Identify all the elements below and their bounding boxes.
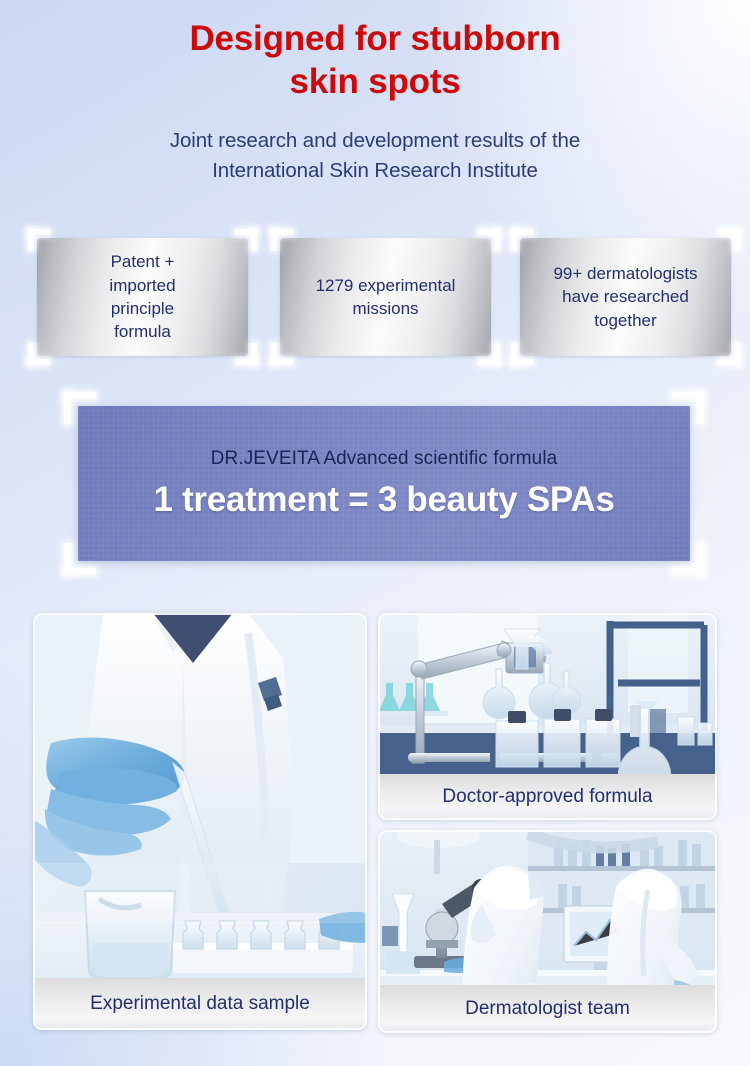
headline-line-2: skin spots: [0, 61, 750, 104]
banner-headline: 1 treatment = 3 beauty SPAs: [153, 480, 614, 520]
photo-card-doctor-approved-formula: Doctor-approved formula: [378, 613, 717, 820]
corner-bracket-icon: [478, 343, 500, 365]
headline-line-1: Designed for stubborn: [0, 18, 750, 61]
badge-card-row: Patent + imported principle formula 1279…: [0, 238, 750, 358]
photo-card-dermatologist-team: Dermatologist team: [378, 830, 717, 1033]
formula-banner: DR.JEVEITA Advanced scientific formula 1…: [78, 406, 690, 561]
corner-bracket-icon: [28, 229, 50, 251]
corner-bracket-icon: [478, 229, 500, 251]
badge-card-label: 1279 experimental missions: [306, 274, 466, 321]
page-title: Designed for stubborn skin spots: [0, 18, 750, 103]
corner-bracket-icon: [718, 229, 740, 251]
promo-page: Designed for stubborn skin spots Joint r…: [0, 0, 750, 1066]
banner-subtitle: DR.JEVEITA Advanced scientific formula: [211, 448, 558, 470]
subtitle-line-1: Joint research and development results o…: [0, 126, 750, 156]
corner-bracket-icon: [64, 543, 96, 575]
corner-bracket-icon: [511, 343, 533, 365]
corner-bracket-icon: [271, 229, 293, 251]
corner-bracket-icon: [718, 343, 740, 365]
corner-bracket-icon: [235, 229, 257, 251]
corner-bracket-icon: [672, 543, 704, 575]
corner-bracket-icon: [271, 343, 293, 365]
lab-pipetting-photo: [33, 613, 367, 1030]
badge-card-patent: Patent + imported principle formula: [37, 238, 248, 356]
badge-card-missions: 1279 experimental missions: [280, 238, 491, 356]
badge-card-label: 99+ dermatologists have researched toget…: [543, 262, 707, 332]
corner-bracket-icon: [235, 343, 257, 365]
photo-card-experimental-data-sample: Experimental data sample: [33, 613, 367, 1030]
badge-card-dermatologists: 99+ dermatologists have researched toget…: [520, 238, 731, 356]
corner-bracket-icon: [64, 392, 96, 424]
photo-caption: Dermatologist team: [378, 985, 717, 1033]
subtitle-line-2: International Skin Research Institute: [0, 156, 750, 186]
badge-card-label: Patent + imported principle formula: [99, 250, 185, 344]
photo-caption: Doctor-approved formula: [378, 774, 717, 820]
page-subtitle: Joint research and development results o…: [0, 126, 750, 185]
photo-caption: Experimental data sample: [33, 978, 367, 1030]
corner-bracket-icon: [28, 343, 50, 365]
corner-bracket-icon: [672, 392, 704, 424]
corner-bracket-icon: [511, 229, 533, 251]
